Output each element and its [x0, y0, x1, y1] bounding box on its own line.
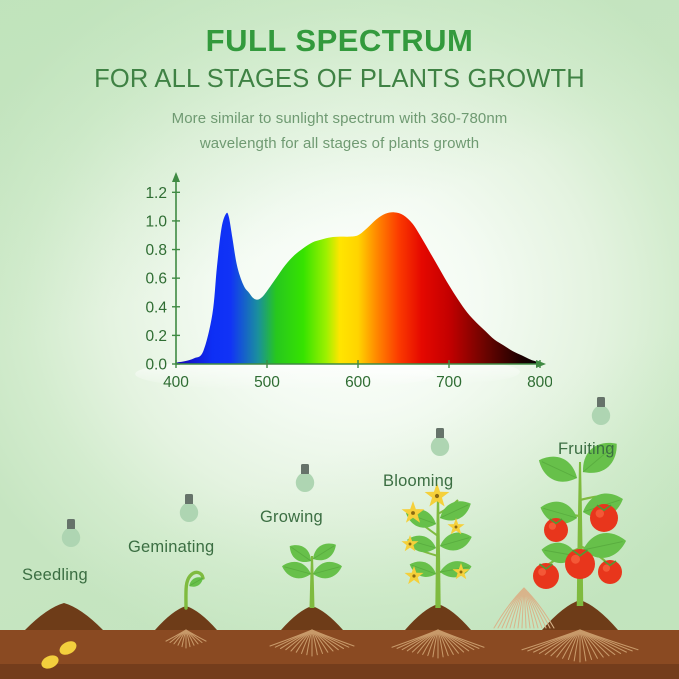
- growth-stages-scene: SeedlingGeminatingGrowingBloomingFruitin…: [0, 396, 679, 679]
- page-title: FULL SPECTRUM: [0, 24, 679, 58]
- fruit-highlight: [603, 565, 610, 572]
- page-subtitle: FOR ALL STAGES OF PLANTS GROWTH: [0, 65, 679, 94]
- plant-fruiting: [533, 434, 629, 606]
- bulb-icon-fruiting: [588, 396, 614, 437]
- x-tick-label: 400: [163, 374, 189, 391]
- flower-center: [435, 494, 439, 498]
- fruit: [544, 518, 568, 542]
- bulb-icon-geminating: [176, 493, 202, 534]
- stage-label-seedling: Seedling: [22, 566, 88, 585]
- x-tick-label: 500: [254, 374, 280, 391]
- spectrum-chart-svg: 0.00.20.40.60.81.01.2 400500600700800: [132, 168, 552, 396]
- stage-label-growing: Growing: [260, 508, 323, 527]
- fruit: [598, 560, 622, 584]
- description-line-1: More similar to sunlight spectrum with 3…: [0, 107, 679, 131]
- x-axis-arrow: [536, 360, 546, 368]
- fruit-highlight: [549, 523, 556, 530]
- y-tick-label: 0.8: [145, 242, 167, 259]
- stage-label-fruiting: Fruiting: [558, 440, 615, 459]
- stage-label-blooming: Blooming: [383, 472, 453, 491]
- plant-geminating: [186, 572, 205, 608]
- flower-center: [412, 574, 415, 577]
- fruit-highlight: [538, 568, 546, 576]
- description-line-2: wavelength for all stages of plants grow…: [0, 132, 679, 156]
- plant-growing: [280, 539, 344, 608]
- plant-blooming: [401, 483, 474, 608]
- bulb-icon-growing: [292, 463, 318, 504]
- flower-center: [411, 511, 415, 515]
- y-tick-label: 0.0: [145, 357, 167, 374]
- fruit-highlight: [571, 555, 580, 564]
- fruit-highlight: [596, 509, 604, 517]
- spectrum-chart: 0.00.20.40.60.81.01.2 400500600700800: [132, 168, 552, 396]
- flower-center: [455, 526, 458, 529]
- y-axis-arrow: [172, 172, 180, 182]
- y-tick-label: 1.0: [145, 213, 167, 230]
- y-tick-label: 1.2: [145, 185, 167, 202]
- y-tick-label: 0.4: [145, 299, 167, 316]
- infographic-canvas: FULL SPECTRUM FOR ALL STAGES OF PLANTS G…: [0, 0, 679, 679]
- x-tick-label: 600: [345, 374, 371, 391]
- fruit: [533, 563, 559, 589]
- stem: [310, 556, 315, 608]
- bulb-icon-blooming: [427, 427, 453, 468]
- flower-center: [409, 543, 412, 546]
- stem: [577, 462, 584, 606]
- spectrum-curve-fill: [176, 212, 540, 364]
- y-axis-ticks: 0.00.20.40.60.81.01.2: [145, 185, 180, 374]
- stage-label-geminating: Geminating: [128, 538, 214, 557]
- x-tick-label: 700: [436, 374, 462, 391]
- bulb-icon-seedling: [58, 518, 84, 559]
- x-tick-label: 800: [527, 374, 552, 391]
- flower-center: [460, 571, 463, 574]
- stem: [435, 492, 440, 608]
- fruit: [565, 549, 595, 579]
- page-description: More similar to sunlight spectrum with 3…: [0, 107, 679, 156]
- y-tick-label: 0.6: [145, 271, 167, 288]
- header: FULL SPECTRUM FOR ALL STAGES OF PLANTS G…: [0, 0, 679, 156]
- y-tick-label: 0.2: [145, 328, 167, 345]
- plants-layer: [0, 396, 679, 679]
- fruit: [590, 504, 618, 532]
